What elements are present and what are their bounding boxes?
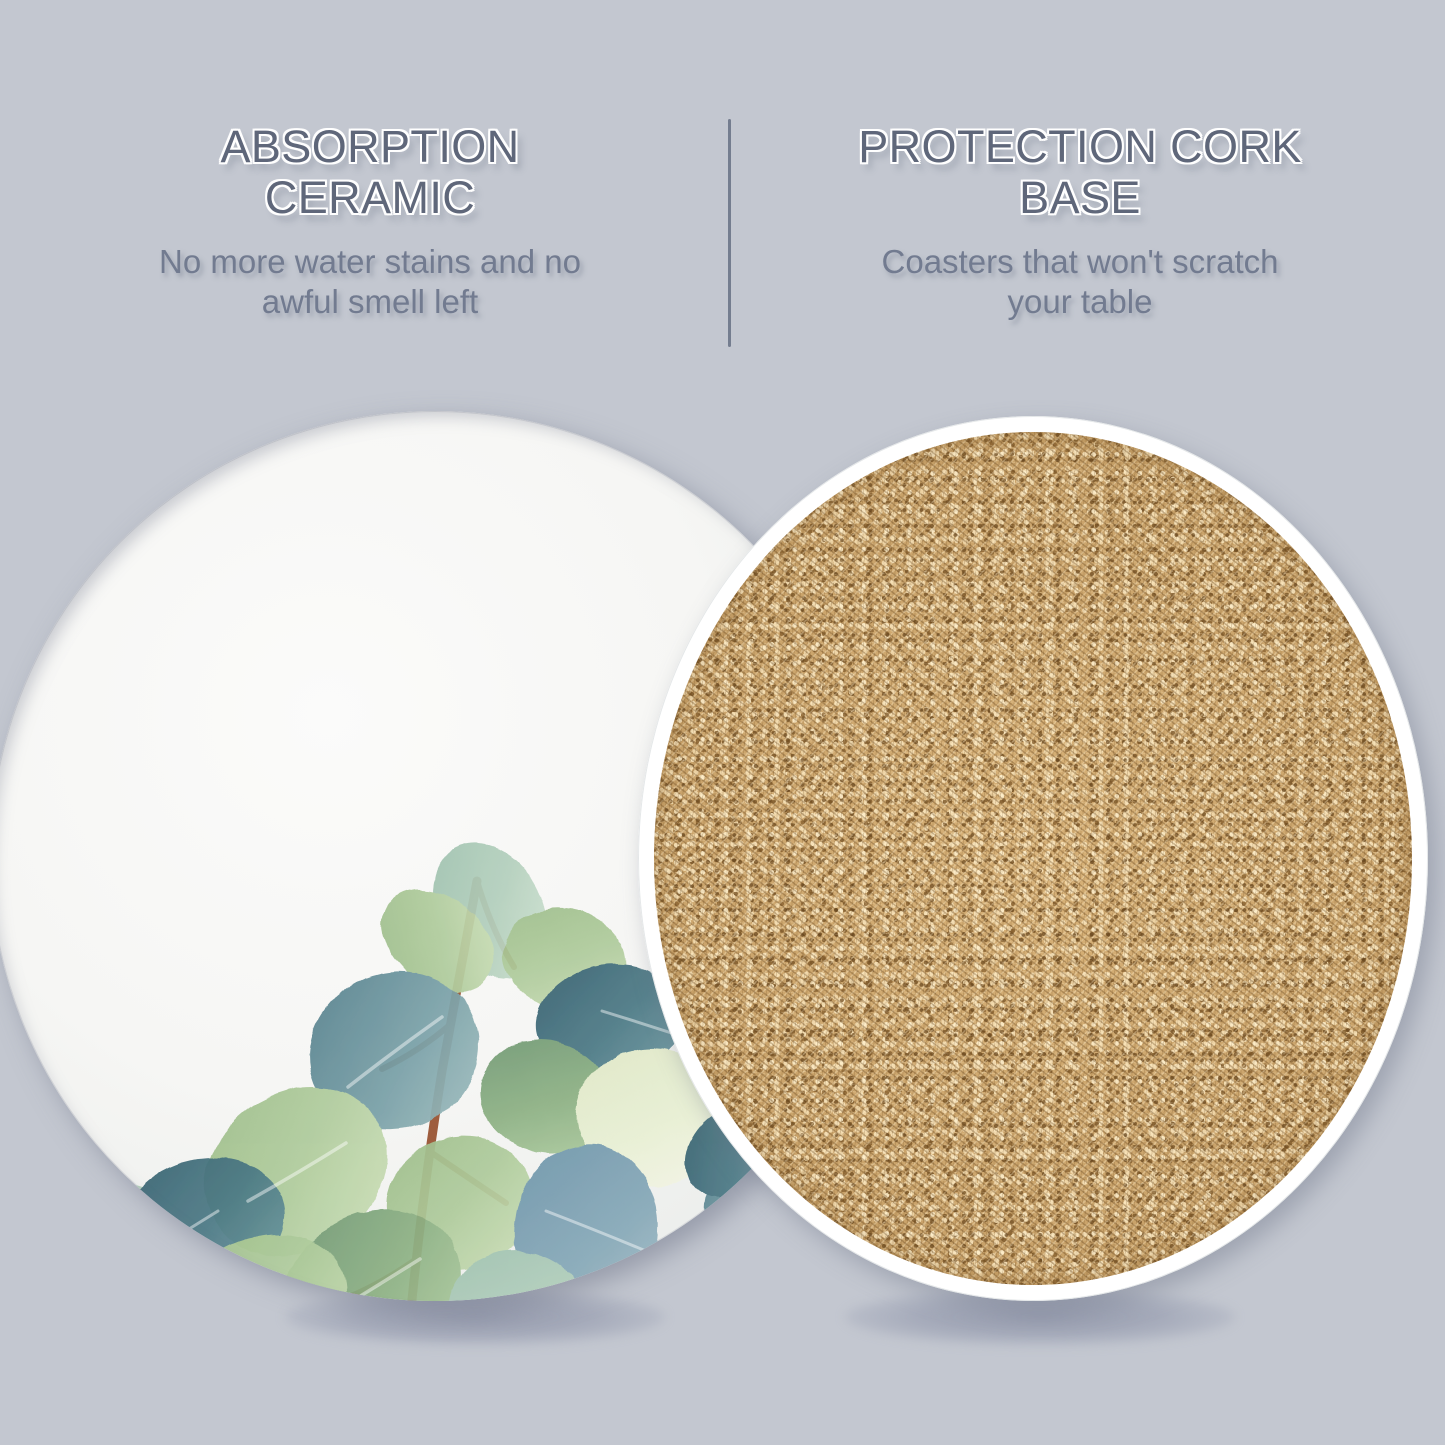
product-feature-infographic: ABSORPTION CERAMIC No more water stains … <box>0 0 1445 1445</box>
feature-copy-area: ABSORPTION CERAMIC No more water stains … <box>0 0 1445 400</box>
cork-coaster-back <box>638 416 1428 1301</box>
feature-title-absorption: ABSORPTION CERAMIC <box>70 122 670 224</box>
feature-block-protection: PROTECTION CORK BASE Coasters that won't… <box>790 122 1370 322</box>
feature-subtitle-protection: Coasters that won't scratch your table <box>790 242 1370 323</box>
vertical-divider <box>728 119 731 347</box>
cork-texture-surface <box>654 432 1412 1285</box>
feature-block-absorption: ABSORPTION CERAMIC No more water stains … <box>70 122 670 322</box>
feature-subtitle-absorption: No more water stains and no awful smell … <box>70 242 670 323</box>
feature-title-protection: PROTECTION CORK BASE <box>790 122 1370 224</box>
